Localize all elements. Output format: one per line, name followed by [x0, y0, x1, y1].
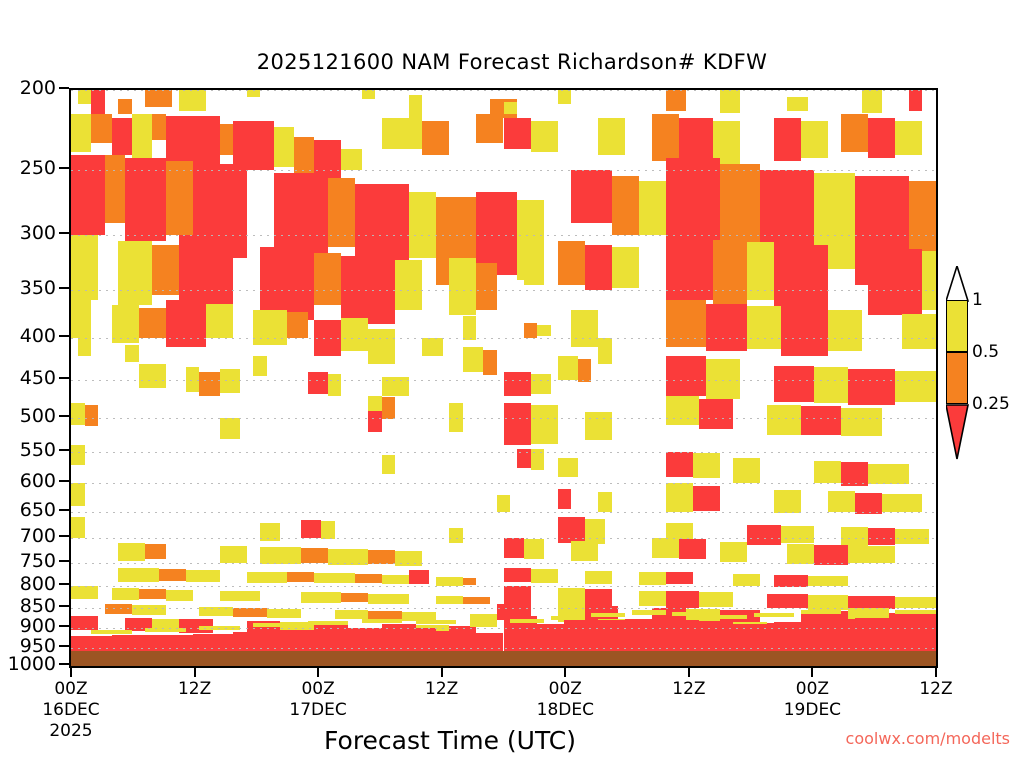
heatmap-cell — [666, 572, 693, 584]
heatmap-cell — [841, 408, 882, 436]
heatmap-cell — [747, 242, 774, 300]
heatmap-cell — [848, 608, 889, 612]
heatmap-cell — [598, 492, 612, 512]
heatmap-cell — [463, 316, 477, 340]
heatmap-cell — [774, 245, 828, 311]
heatmap-cell — [504, 118, 531, 150]
heatmap-cell — [247, 90, 261, 97]
heatmap-cell — [71, 586, 98, 599]
heatmap-cell — [706, 304, 747, 351]
heatmap-cell — [314, 320, 341, 356]
heatmap-cell — [652, 538, 679, 558]
x-tick-date: 17DEC — [289, 700, 346, 721]
heatmap-cell — [733, 574, 760, 586]
x-axis-title: Forecast Time (UTC) — [0, 726, 900, 755]
heatmap-cell — [666, 452, 693, 477]
heatmap-cell — [436, 596, 463, 605]
heatmap-cell — [868, 249, 922, 315]
heatmap-cell — [828, 310, 862, 351]
heatmap-cell — [666, 396, 700, 425]
x-tick-label: 12Z — [672, 679, 705, 700]
heatmap-cell — [774, 366, 815, 402]
heatmap-cell — [747, 525, 781, 546]
heatmap-cell — [314, 573, 355, 583]
heatmap-cell — [895, 371, 936, 402]
heatmap-cell — [294, 137, 314, 173]
heatmap-cell — [598, 118, 625, 156]
heatmap-cell — [612, 176, 639, 236]
heatmap-cell — [78, 338, 92, 355]
heatmap-cell — [801, 610, 842, 614]
heatmap-cell — [91, 114, 111, 143]
y-tick — [59, 87, 69, 89]
heatmap-cell — [166, 590, 193, 601]
heatmap-cell — [233, 608, 267, 617]
heatmap-cell — [253, 310, 287, 345]
colorbar-label: 0.25 — [972, 394, 1010, 414]
chart-title: 2025121600 NAM Forecast Richardson# KDFW — [0, 50, 1024, 74]
colorbar-segment-yellow — [946, 300, 968, 352]
y-tick — [59, 560, 69, 562]
heatmap-cell — [666, 235, 713, 300]
y-axis: 2002503003504004505005506006507007508008… — [0, 88, 69, 668]
heatmap-cell — [382, 377, 409, 396]
heatmap-cell — [591, 613, 625, 617]
heatmap-cell — [571, 541, 598, 561]
heatmap-cell — [368, 329, 395, 364]
heatmap-cell — [922, 251, 936, 310]
heatmap-cell — [199, 626, 240, 630]
x-tick-label: 12Z — [919, 679, 952, 700]
heatmap-cell — [179, 235, 233, 310]
heatmap-cell — [71, 616, 98, 630]
heatmap-cell — [612, 247, 639, 288]
x-tick-time: 00Z — [289, 679, 346, 700]
heatmap-cell — [558, 458, 578, 477]
y-tick-label: 300 — [20, 222, 56, 244]
y-tick — [59, 625, 69, 627]
heatmap-cell — [585, 571, 612, 585]
heatmap-cell — [801, 406, 842, 434]
y-tick — [59, 605, 69, 607]
heatmap-cell — [585, 589, 612, 606]
heatmap-cell — [504, 568, 531, 582]
heatmap-cell — [531, 374, 551, 394]
heatmap-cell — [91, 630, 132, 634]
y-tick-label: 650 — [20, 499, 56, 521]
y-tick-label: 550 — [20, 439, 56, 461]
heatmap-cell — [639, 181, 666, 235]
heatmap-cell — [152, 245, 179, 296]
heatmap-cell — [362, 619, 403, 623]
heatmap-cell — [368, 550, 395, 564]
heatmap-cell — [362, 90, 376, 99]
heatmap-cell — [787, 97, 807, 111]
x-tick-date: 16DEC — [42, 700, 99, 721]
heatmap-cell — [118, 543, 145, 560]
heatmap-cell — [260, 523, 280, 541]
heatmap-cell — [71, 235, 98, 300]
heatmap-cell — [571, 310, 598, 347]
heatmap-cell — [909, 90, 923, 111]
x-tick-time: 00Z — [784, 679, 841, 700]
x-tick-label: 00Z18DEC — [537, 679, 594, 721]
y-tick-label: 450 — [20, 367, 56, 389]
heatmap-cell — [382, 397, 396, 419]
heatmap-cell — [409, 95, 423, 117]
heatmap-cell — [531, 569, 558, 583]
heatmap-cell — [301, 548, 328, 563]
y-tick — [59, 509, 69, 511]
x-tick-time: 00Z — [537, 679, 594, 700]
credit-text: coolwx.com/modelts — [846, 729, 1010, 748]
heatmap-cell — [862, 90, 882, 113]
heatmap-cell — [328, 549, 369, 565]
x-tick-time: 12Z — [178, 679, 211, 700]
heatmap-cell — [476, 263, 496, 311]
heatmap-cell — [220, 546, 247, 563]
y-tick-label: 700 — [20, 525, 56, 547]
heatmap-cell — [395, 260, 422, 310]
heatmap-cell — [551, 616, 585, 620]
heatmap-cell — [139, 364, 166, 388]
heatmap-cell — [260, 247, 314, 320]
heatmap-cell — [267, 609, 301, 618]
heatmap-cell — [652, 114, 679, 161]
heatmap-cell — [220, 418, 240, 439]
heatmap-cell — [422, 338, 442, 355]
heatmap-cell — [341, 256, 395, 324]
heatmap-cell — [301, 592, 342, 602]
heatmap-cell — [558, 588, 585, 605]
heatmap-cell — [814, 545, 848, 565]
heatmap-cell — [247, 572, 288, 583]
heatmap-cell — [422, 121, 449, 155]
y-tick-label: 800 — [20, 573, 56, 595]
heatmap-cell — [841, 527, 868, 547]
heatmap-cell — [274, 127, 294, 167]
heatmap-cell — [91, 90, 105, 114]
heatmap-cell — [524, 237, 544, 285]
heatmap-cell — [152, 114, 166, 140]
x-tick-label: 12Z — [425, 679, 458, 700]
heatmap-cell — [781, 526, 815, 544]
heatmap-cell — [632, 610, 666, 614]
y-tick — [59, 167, 69, 169]
colorbar-segment-orange — [946, 352, 968, 404]
heatmap-cell — [639, 591, 666, 607]
heatmap-cell — [145, 90, 172, 107]
x-tick-time: 12Z — [672, 679, 705, 700]
heatmap-cell — [328, 178, 355, 247]
heatmap-cell — [895, 610, 936, 614]
y-tick — [59, 583, 69, 585]
heatmap-cell — [808, 595, 849, 610]
heatmap-cell — [666, 300, 707, 347]
heatmap-cell — [754, 613, 795, 617]
plot-area — [69, 88, 938, 668]
heatmap-cell — [395, 551, 422, 565]
heatmap-cell — [125, 158, 166, 241]
heatmap-cell — [416, 620, 457, 624]
heatmap-cell — [253, 356, 267, 377]
heatmap-cell — [186, 570, 220, 582]
y-tick — [59, 480, 69, 482]
heatmap-cell — [118, 568, 159, 582]
y-tick — [59, 377, 69, 379]
heatmap-cell — [206, 304, 233, 338]
heatmap-cell — [112, 588, 139, 600]
heatmap-cell — [470, 623, 497, 627]
y-tick-label: 200 — [20, 77, 56, 99]
x-tick — [564, 668, 566, 677]
heatmap-cell — [382, 118, 423, 150]
heatmap-cell — [868, 464, 909, 485]
heatmap-cell — [666, 483, 693, 512]
heatmap-cell — [801, 121, 828, 158]
heatmap-cell — [814, 367, 848, 403]
heatmap-cell — [166, 300, 207, 347]
y-tick-label: 850 — [20, 595, 56, 617]
heatmap-cell — [409, 570, 429, 584]
heatmap-cell — [895, 529, 929, 544]
heatmap-cell — [449, 528, 463, 543]
y-tick-label: 750 — [20, 550, 56, 572]
heatmap-cell — [558, 356, 578, 381]
y-tick-label: 400 — [20, 325, 56, 347]
x-tick-time: 12Z — [425, 679, 458, 700]
heatmap-cell — [868, 528, 895, 545]
heatmap-cell — [558, 241, 585, 285]
y-tick — [59, 415, 69, 417]
heatmap-cell — [321, 521, 335, 540]
heatmap-cell — [497, 495, 511, 512]
heatmap-cell — [409, 192, 436, 258]
heatmap-cell — [774, 118, 801, 162]
heatmap-cell — [118, 241, 152, 305]
heatmap-cell — [781, 308, 828, 355]
heatmap-cell — [308, 372, 328, 394]
heatmap-cell — [341, 149, 361, 170]
x-tick-label: 00Z19DEC — [784, 679, 841, 721]
heatmap-cell — [463, 597, 490, 604]
heatmap-cell — [693, 453, 720, 478]
heatmap-cell — [510, 619, 544, 623]
x-tick-label: 00Z17DEC — [289, 679, 346, 721]
heatmap-cell — [71, 114, 91, 152]
heatmap-cell — [531, 121, 558, 152]
heatmap-cell — [125, 345, 139, 362]
heatmap-cell — [112, 118, 132, 156]
colorbar-label: 0.5 — [972, 342, 999, 362]
heatmap-cell — [774, 575, 808, 587]
heatmap-cell — [260, 547, 301, 564]
heatmap-cell — [449, 403, 463, 432]
heatmap-cell — [598, 338, 612, 364]
heatmap-cell — [720, 542, 747, 562]
heatmap-cell — [504, 538, 524, 558]
heatmap-cell — [666, 591, 700, 607]
heatmap-cell — [504, 102, 518, 114]
heatmap-cell — [504, 372, 531, 396]
heatmap-cell — [287, 312, 307, 338]
heatmap-cell — [639, 572, 666, 586]
heatmap-cell — [483, 350, 497, 375]
heatmap-cell — [71, 403, 85, 425]
heatmap-cell — [287, 572, 314, 581]
y-tick — [59, 287, 69, 289]
heatmap-cell — [713, 615, 747, 619]
heatmap-cell — [828, 491, 855, 511]
heatmap-cell — [71, 155, 105, 235]
y-tick-label: 600 — [20, 470, 56, 492]
heatmap-cell — [85, 405, 99, 427]
heatmap-cell — [341, 318, 368, 351]
heatmap-cell — [253, 623, 294, 627]
heatmap-cell — [855, 493, 882, 514]
heatmap-cell — [841, 114, 868, 152]
heatmap-cell — [672, 612, 706, 616]
terrain-band — [71, 651, 936, 666]
heatmap-cell — [699, 592, 733, 607]
x-tick — [194, 668, 196, 677]
chart-canvas: 2025121600 NAM Forecast Richardson# KDFW… — [0, 0, 1024, 768]
heatmap-cell — [105, 604, 132, 613]
x-tick-time: 00Z — [42, 679, 99, 700]
heatmap-cell — [105, 155, 125, 223]
heatmap-cell — [679, 539, 706, 559]
heatmap-cell — [382, 575, 409, 584]
heatmap-cell — [220, 369, 240, 393]
heatmap-cell — [314, 253, 341, 306]
heatmap-cell — [463, 578, 477, 585]
heatmap-cell — [767, 405, 801, 436]
heatmap-cell — [355, 574, 382, 582]
heatmap-cell — [118, 99, 132, 114]
x-tick — [70, 668, 72, 677]
heatmap-cell — [368, 594, 409, 604]
y-tick — [59, 449, 69, 451]
heatmap-cell — [470, 614, 497, 623]
heatmap-cell — [145, 628, 186, 632]
colorbar-label: 1 — [972, 290, 983, 310]
heatmap-cells — [71, 90, 936, 666]
heatmap-cell — [139, 589, 166, 600]
heatmap-cell — [145, 544, 165, 559]
heatmap-cell — [699, 399, 733, 429]
x-tick-time: 12Z — [919, 679, 952, 700]
heatmap-cell — [71, 517, 85, 538]
heatmap-cell — [159, 569, 186, 581]
heatmap-cell — [902, 314, 936, 349]
heatmap-cell — [301, 520, 321, 538]
y-tick-label: 1000 — [8, 653, 56, 675]
heatmap-cell — [558, 90, 572, 104]
heatmap-cell — [71, 300, 91, 338]
heatmap-cell — [132, 605, 166, 614]
heatmap-cell — [808, 576, 849, 586]
heatmap-cell — [382, 455, 396, 474]
heatmap-cell — [747, 306, 781, 348]
heatmap-cell — [720, 90, 740, 113]
heatmap-cell — [848, 596, 895, 609]
heatmap-cell — [733, 458, 760, 483]
heatmap-cell — [220, 124, 234, 155]
heatmap-cell — [328, 374, 342, 396]
heatmap-cell — [368, 411, 382, 432]
heatmap-cell — [558, 489, 572, 509]
x-tick — [441, 668, 443, 677]
heatmap-cell — [504, 586, 531, 603]
heatmap-cell — [841, 462, 868, 485]
heatmap-cell — [531, 449, 545, 469]
heatmap-cell — [71, 483, 85, 506]
x-tick — [317, 668, 319, 677]
heatmap-cell — [139, 308, 166, 338]
heatmap-cell — [449, 258, 476, 315]
y-tick — [59, 335, 69, 337]
x-tick — [688, 668, 690, 677]
heatmap-cell — [814, 461, 841, 483]
heatmap-cell — [71, 445, 85, 464]
heatmap-cell — [767, 594, 808, 608]
heatmap-cell — [308, 621, 349, 625]
heatmap-cell — [504, 403, 531, 445]
y-tick-label: 500 — [20, 405, 56, 427]
heatmap-cell — [186, 367, 200, 392]
heatmap-cell — [571, 170, 612, 223]
heatmap-cell — [706, 359, 740, 399]
heatmap-cell — [895, 121, 922, 155]
heatmap-cell — [335, 610, 369, 619]
heatmap-cell — [774, 490, 801, 513]
heatmap-cell — [233, 121, 274, 170]
heatmap-cell — [558, 517, 585, 543]
y-tick-label: 250 — [20, 157, 56, 179]
heatmap-cell — [713, 240, 747, 305]
colorbar: 10.50.25 — [940, 300, 1024, 480]
y-tick — [59, 232, 69, 234]
y-tick-label: 350 — [20, 277, 56, 299]
heatmap-cell — [578, 359, 592, 382]
y-tick — [59, 535, 69, 537]
y-tick — [59, 663, 69, 665]
heatmap-cell — [341, 593, 368, 602]
heatmap-cell — [524, 323, 538, 338]
heatmap-cell — [868, 118, 895, 159]
heatmap-cell — [112, 305, 139, 342]
heatmap-cell — [166, 161, 193, 235]
x-tick-date: 19DEC — [784, 700, 841, 721]
heatmap-cell — [848, 369, 895, 405]
heatmap-cell — [895, 597, 936, 608]
heatmap-cell — [666, 90, 686, 111]
heatmap-cell — [882, 494, 923, 512]
heatmap-cell — [436, 577, 463, 586]
x-tick — [935, 668, 937, 677]
heatmap-cell — [524, 539, 544, 559]
heatmap-cell — [78, 90, 92, 104]
heatmap-cell — [179, 90, 206, 111]
x-tick-label: 12Z — [178, 679, 211, 700]
heatmap-cell — [537, 325, 551, 336]
heatmap-cell — [463, 347, 483, 372]
heatmap-cell — [199, 607, 233, 616]
heatmap-cell — [787, 544, 814, 564]
heatmap-cell — [666, 356, 707, 396]
heatmap-cell — [585, 245, 612, 291]
heatmap-cell — [476, 114, 503, 143]
